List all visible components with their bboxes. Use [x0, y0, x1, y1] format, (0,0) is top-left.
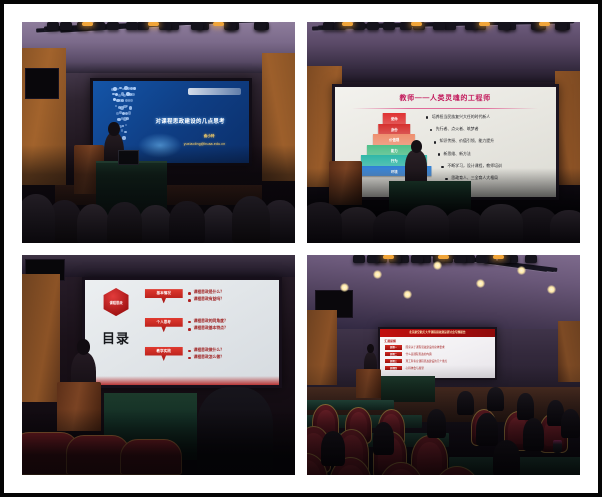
audience-shadow [22, 409, 295, 475]
pyramid-level: 身份 [378, 124, 410, 135]
collage-grid: 对课程思政建设的几点思考 俞小玲 yuxiaoling@buaa.edu.cn [22, 22, 580, 475]
dot [121, 99, 124, 102]
dot [124, 131, 127, 134]
attendee-head [107, 202, 142, 243]
downlight-icon [373, 270, 382, 279]
dot [133, 87, 135, 89]
monitor-icon [25, 68, 60, 99]
dot [131, 93, 134, 96]
bullet-item: 知识传授、价值引领、能力提升 [440, 138, 494, 144]
dot [122, 125, 124, 127]
agenda-question: 课程思政是什么？ [194, 290, 224, 295]
title-underline [352, 108, 538, 109]
dot [129, 106, 133, 110]
audience-shadow [307, 365, 580, 475]
outline-row-text: 理工科专业课程思政建设的几个重点 [406, 359, 490, 363]
agenda-question: 课程思政的同角度？ [194, 319, 228, 324]
pyramid-level-label: 价值观 [389, 137, 399, 142]
wall-left [22, 274, 60, 402]
outline-row: 提纲一国家关于课程思政建设的总体要求 [385, 345, 490, 349]
agenda-question: 课程思政有益吗？ [194, 297, 224, 302]
photo-top-right[interactable]: 教师——人类灵魂的工程师 使命身份价值观能力行为环境 培养担当民族复兴大任的时代… [307, 22, 580, 243]
photo-collage: 对课程思政建设的几点思考 俞小玲 yuxiaoling@buaa.edu.cn [0, 0, 602, 497]
slide-title: 对课程思政建设的几点思考 [155, 117, 244, 125]
outline-row-tag: 提纲二 [385, 352, 403, 356]
agenda-badge-label: 教学实践 [157, 349, 171, 354]
pyramid-level-label: 身份 [391, 127, 398, 132]
downlight-icon [340, 283, 349, 292]
slide-footer-band [85, 376, 279, 386]
slide-title: 教师——人类灵魂的工程师 [335, 93, 556, 103]
projection-screen: 课程思政 目录 基本情况课程思政是什么？课程思政有益吗？个人思考课程思政的同角度… [82, 277, 282, 389]
pyramid-level: 价值观 [373, 134, 415, 145]
slide-header-text: 北京航空航天大学课程思政建设研讨会专题报告 [380, 330, 495, 334]
dot [121, 129, 123, 131]
attendee-head [232, 196, 270, 242]
dot [130, 99, 132, 101]
slide-subtitle: 汇报提纲 [385, 339, 396, 343]
agenda-badge: 基本情况 [145, 289, 183, 303]
slide-presenter: 俞小玲 [174, 134, 244, 139]
agenda-badge-label: 个人思考 [157, 320, 171, 325]
dot [126, 117, 129, 120]
agenda-badge-label: 基本情况 [157, 291, 171, 296]
bullet-item: 培养担当民族复兴大任的时代新人 [432, 114, 490, 120]
agenda-badge: 教学实践 [145, 347, 183, 361]
photo-bottom-left[interactable]: 课程思政 目录 基本情况课程思政是什么？课程思政有益吗？个人思考课程思政的同角度… [22, 255, 295, 476]
attendee-head [405, 205, 449, 242]
attendee-head [337, 207, 378, 242]
photo-top-left[interactable]: 对课程思政建设的几点思考 俞小玲 yuxiaoling@buaa.edu.cn [22, 22, 295, 243]
hexagon-label: 课程思政 [95, 301, 138, 305]
dot [125, 124, 128, 127]
outline-row-tag: 提纲三 [385, 359, 403, 363]
downlight-icon [403, 290, 412, 299]
agenda-question: 课程思政基本特点？ [194, 326, 228, 331]
pyramid-level-label: 使命 [391, 116, 398, 121]
hexagon-badge: 课程思政 [95, 288, 138, 330]
agenda-badge: 个人思考 [145, 318, 183, 332]
photo-bottom-right[interactable]: 北京航空航天大学课程思政建设研讨会专题报告 汇报提纲 提纲一国家关于课程思政建设… [307, 255, 580, 476]
attendee-head [169, 201, 204, 243]
attendee-head [550, 210, 580, 242]
downlight-icon [476, 279, 485, 288]
ceiling [307, 22, 580, 82]
dot [122, 136, 126, 140]
attendee-head [139, 205, 172, 242]
outline-row-text: 什么是课程思政的内涵 [406, 352, 490, 356]
dot [128, 111, 132, 115]
outline-row: 提纲三理工科专业课程思政建设的几个重点 [385, 359, 490, 363]
outline-row-text: 国家关于课程思政建设的总体要求 [406, 345, 490, 349]
bullet-item: 先行者、点火者、筑梦者 [436, 126, 479, 132]
outline-row: 提纲二什么是课程思政的内涵 [385, 352, 490, 356]
agenda-question: 课程思政做什么？ [194, 348, 224, 353]
downlight-icon [517, 266, 526, 275]
attendee-head [77, 204, 110, 243]
university-logo [188, 88, 241, 95]
attendee-head [202, 205, 235, 243]
agenda-question: 课程思政怎么做？ [194, 355, 224, 360]
collage-mat: 对课程思政建设的几点思考 俞小玲 yuxiaoling@buaa.edu.cn [22, 22, 580, 475]
agenda-rows: 基本情况课程思政是什么？课程思政有益吗？个人思考课程思政的同角度？课程思政基本特… [139, 289, 275, 379]
outline-row-tag: 提纲一 [385, 345, 403, 349]
agenda-heading: 目录 [97, 332, 136, 346]
attendee-head [22, 194, 55, 242]
pyramid-level: 使命 [383, 113, 406, 124]
downlight-icon [433, 261, 442, 270]
attendee-head [479, 204, 523, 243]
